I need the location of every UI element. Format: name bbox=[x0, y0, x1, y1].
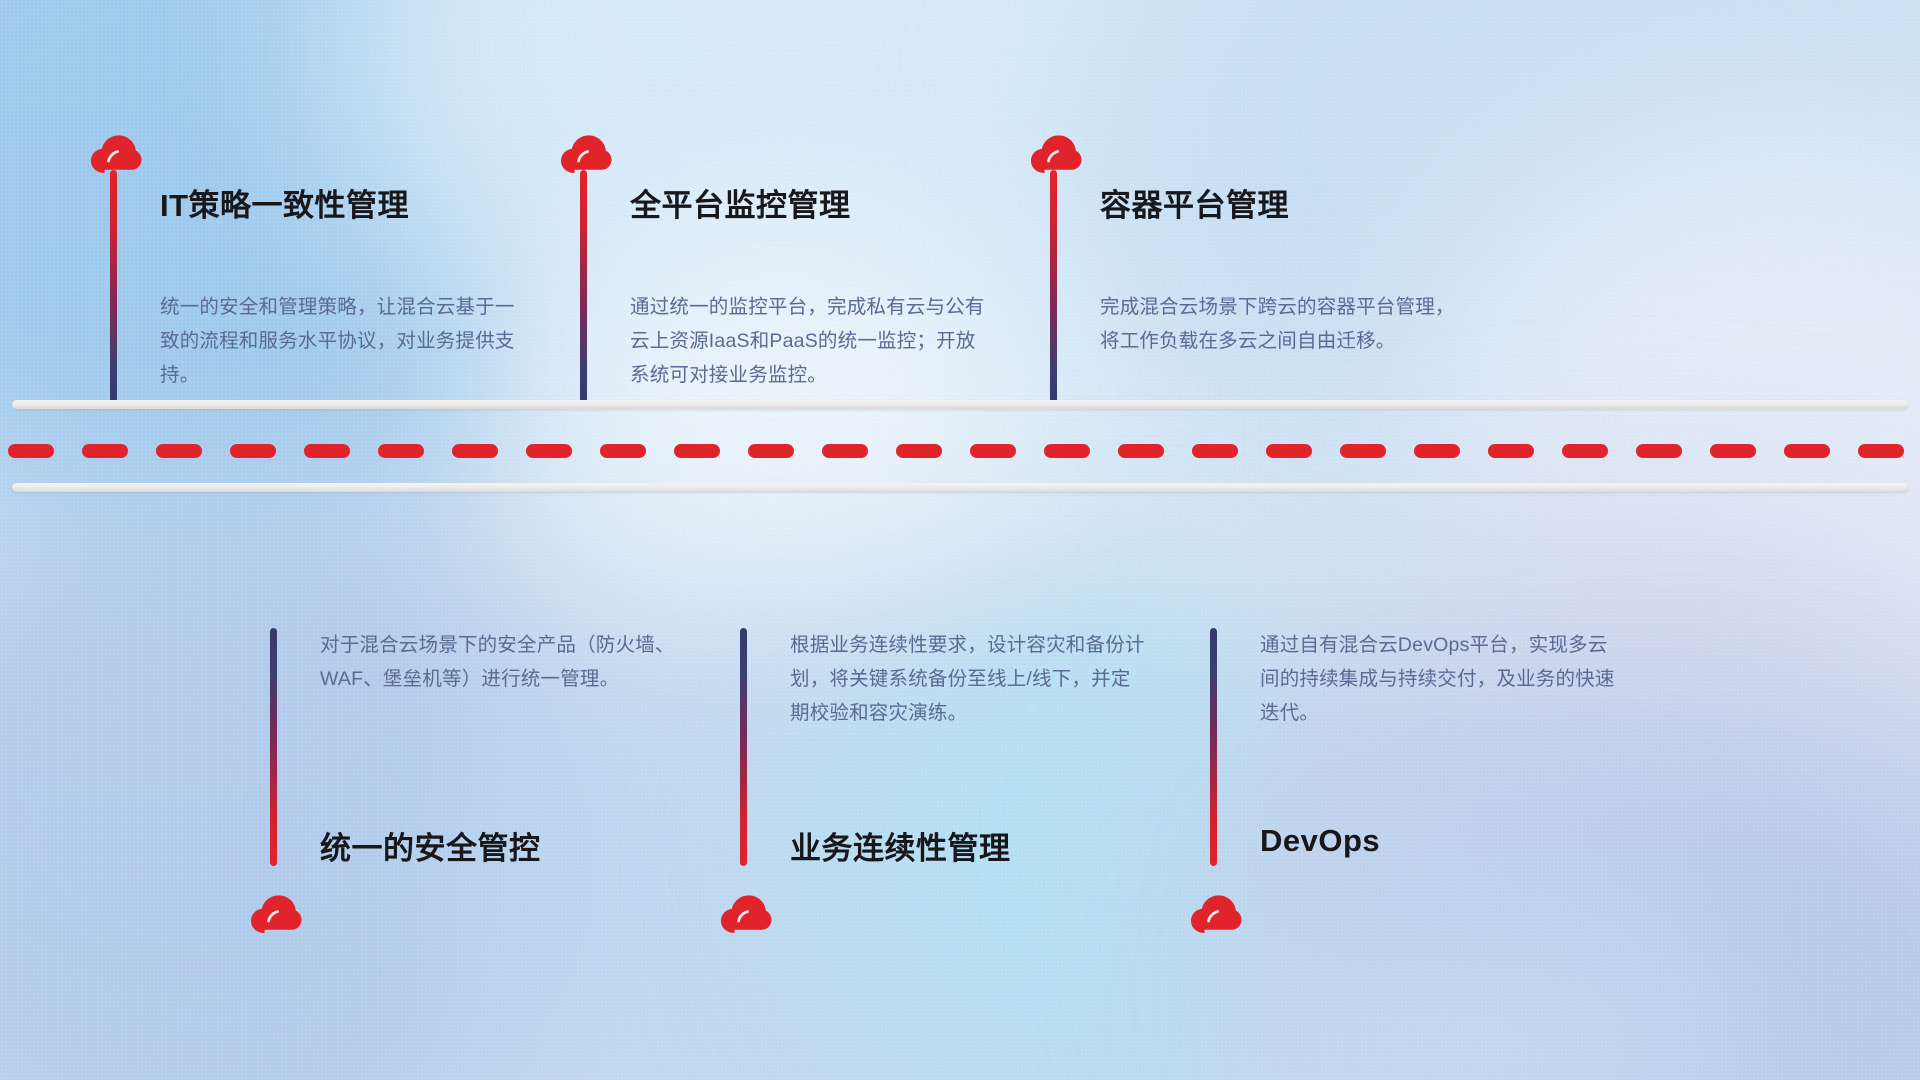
card-body: 通过统一的监控平台，完成私有云与公有云上资源IaaS和PaaS的统一监控；开放系… bbox=[630, 290, 990, 392]
stem-line bbox=[1050, 170, 1057, 408]
stem-line bbox=[270, 628, 277, 866]
dash-segment bbox=[156, 444, 202, 458]
card-body: 完成混合云场景下跨云的容器平台管理，将工作负载在多云之间自由迁移。 bbox=[1100, 290, 1460, 358]
dash-segment bbox=[82, 444, 128, 458]
dash-segment bbox=[1488, 444, 1534, 458]
dash-segment bbox=[970, 444, 1016, 458]
card-title: 容器平台管理 bbox=[1100, 180, 1289, 225]
card-title: 全平台监控管理 bbox=[630, 180, 851, 225]
divider-top bbox=[12, 400, 1908, 409]
dash-segment bbox=[452, 444, 498, 458]
cloud-icon bbox=[88, 130, 144, 174]
card-body: 对于混合云场景下的安全产品（防火墙、WAF、堡垒机等）进行统一管理。 bbox=[320, 628, 680, 696]
dash-segment bbox=[230, 444, 276, 458]
dash-segment bbox=[600, 444, 646, 458]
card-body: 通过自有混合云DevOps平台，实现多云间的持续集成与持续交付，及业务的快速迭代… bbox=[1260, 628, 1620, 730]
cloud-icon bbox=[558, 130, 614, 174]
dash-segment bbox=[1562, 444, 1608, 458]
dash-segment bbox=[378, 444, 424, 458]
cloud-icon bbox=[1028, 130, 1084, 174]
cloud-icon bbox=[718, 890, 774, 934]
dash-segment bbox=[1414, 444, 1460, 458]
dash-segment bbox=[526, 444, 572, 458]
dash-segment bbox=[1784, 444, 1830, 458]
stem-line bbox=[740, 628, 747, 866]
card-title: IT策略一致性管理 bbox=[160, 180, 409, 225]
stem-line bbox=[580, 170, 587, 408]
dash-segment bbox=[1192, 444, 1238, 458]
dash-segment bbox=[896, 444, 942, 458]
dash-segment bbox=[1636, 444, 1682, 458]
dash-segment bbox=[1044, 444, 1090, 458]
dash-segment bbox=[1710, 444, 1756, 458]
card-title: DevOps bbox=[1260, 823, 1380, 859]
dash-segment bbox=[822, 444, 868, 458]
divider-bottom bbox=[12, 483, 1908, 492]
infographic-canvas: IT策略一致性管理 统一的安全和管理策略，让混合云基于一致的流程和服务水平协议，… bbox=[0, 0, 1920, 1080]
dashed-separator bbox=[0, 444, 1920, 458]
dash-segment bbox=[1266, 444, 1312, 458]
dash-segment bbox=[1118, 444, 1164, 458]
card-body: 根据业务连续性要求，设计容灾和备份计划，将关键系统备份至线上/线下，并定期校验和… bbox=[790, 628, 1150, 730]
card-body: 统一的安全和管理策略，让混合云基于一致的流程和服务水平协议，对业务提供支持。 bbox=[160, 290, 520, 392]
card-title: 业务连续性管理 bbox=[790, 823, 1011, 868]
stem-line bbox=[110, 170, 117, 408]
dash-segment bbox=[1340, 444, 1386, 458]
dash-segment bbox=[1858, 444, 1904, 458]
stem-line bbox=[1210, 628, 1217, 866]
dash-segment bbox=[674, 444, 720, 458]
dash-segment bbox=[748, 444, 794, 458]
dash-segment bbox=[8, 444, 54, 458]
card-title: 统一的安全管控 bbox=[320, 823, 541, 868]
dash-segment bbox=[304, 444, 350, 458]
cloud-icon bbox=[1188, 890, 1244, 934]
cloud-icon bbox=[248, 890, 304, 934]
